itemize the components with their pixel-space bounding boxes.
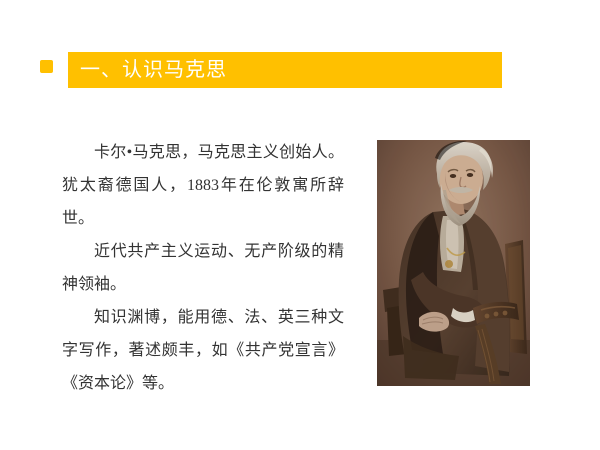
slide-title-text: 一、认识马克思 xyxy=(80,60,227,80)
slide-body-text: 卡尔•马克思，马克思主义创始人。犹太裔德国人，1883年在伦敦寓所辞世。 近代共… xyxy=(62,136,344,400)
karl-marx-portrait-image xyxy=(377,140,530,386)
slide-canvas: 一、认识马克思 卡尔•马克思，马克思主义创始人。犹太裔德国人，1883年在伦敦寓… xyxy=(0,0,600,450)
body-paragraph-3: 知识渊博，能用德、法、英三种文字写作，著述颇丰，如《共产党宣言》《资本论》等。 xyxy=(62,301,344,400)
body-paragraph-1: 卡尔•马克思，马克思主义创始人。犹太裔德国人，1883年在伦敦寓所辞世。 xyxy=(62,136,344,235)
title-bullet-square-icon xyxy=(40,60,53,73)
slide-title-bar: 一、认识马克思 xyxy=(68,52,502,88)
body-paragraph-2: 近代共产主义运动、无产阶级的精神领袖。 xyxy=(62,235,344,301)
portrait-illustration xyxy=(377,140,530,386)
